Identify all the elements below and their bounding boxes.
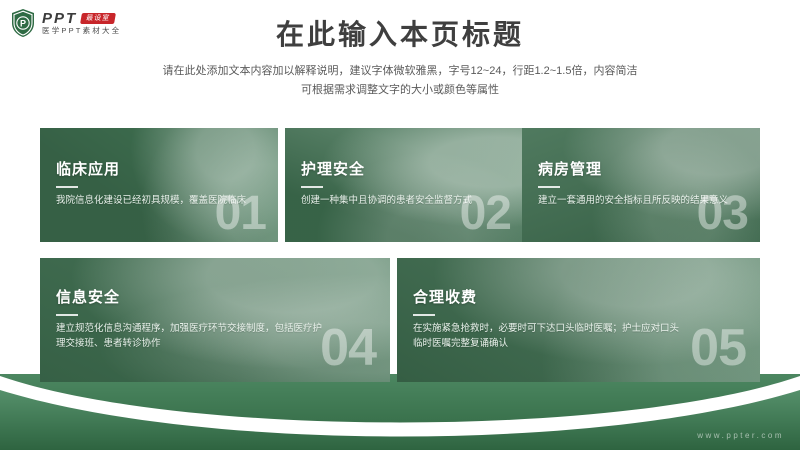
card-divider <box>301 186 323 188</box>
content-card-clinical-application[interactable]: 临床应用 我院信息化建设已经初具规模，覆盖医院临床 01 <box>40 128 278 242</box>
card-body-text: 建立规范化信息沟通程序，加强医疗环节交接制度，包括医疗护理交接班、患者转诊协作 <box>56 322 324 351</box>
card-number: 02 <box>460 190 511 238</box>
content-card-ward-management[interactable]: 病房管理 建立一套通用的安全指标且所反映的结果意义 03 <box>522 128 760 242</box>
card-title: 合理收费 <box>413 289 744 307</box>
card-divider <box>56 314 78 316</box>
content-card-reasonable-charging[interactable]: 合理收费 在实施紧急抢救时，必要时可下达口头临时医嘱；护士应对口头临时医嘱完整复… <box>397 258 760 382</box>
content-card-nursing-safety[interactable]: 护理安全 创建一种集中且协调的患者安全监督方式 02 <box>285 128 523 242</box>
page-subtitle: 请在此处添加文本内容加以解释说明，建议字体微软雅黑，字号12~24，行距1.2~… <box>0 62 800 101</box>
card-divider <box>56 186 78 188</box>
content-card-information-security[interactable]: 信息安全 建立规范化信息沟通程序，加强医疗环节交接制度，包括医疗护理交接班、患者… <box>40 258 390 382</box>
card-divider <box>538 186 560 188</box>
page-title: 在此输入本页标题 <box>0 18 800 52</box>
card-number: 01 <box>215 190 266 238</box>
card-divider <box>413 314 435 316</box>
subtitle-line-1: 请在此处添加文本内容加以解释说明，建议字体微软雅黑，字号12~24，行距1.2~… <box>0 62 800 81</box>
card-number: 03 <box>697 190 748 238</box>
subtitle-line-2: 可根据需求调整文字的大小或颜色等属性 <box>0 81 800 100</box>
card-title: 信息安全 <box>56 289 374 307</box>
card-number: 05 <box>690 322 746 374</box>
footer-website-url: www.ppter.com <box>697 431 784 440</box>
card-title: 护理安全 <box>301 161 507 179</box>
card-number: 04 <box>320 322 376 374</box>
slide-canvas: P PPT 最设室 医学PPT素材大全 在此输入本页标题 请在此处添加文本内容加… <box>0 0 800 450</box>
card-title: 临床应用 <box>56 161 262 179</box>
card-title: 病房管理 <box>538 161 744 179</box>
card-body-text: 在实施紧急抢救时，必要时可下达口头临时医嘱；护士应对口头临时医嘱完整复诵确认 <box>413 322 681 351</box>
